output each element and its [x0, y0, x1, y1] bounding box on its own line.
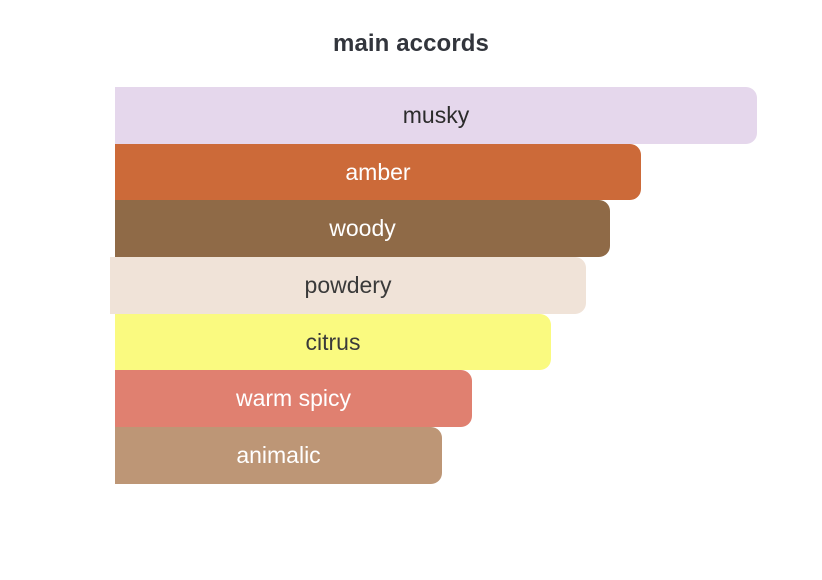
page-title: main accords: [0, 30, 822, 58]
accord-bar-label: amber: [345, 161, 410, 184]
accord-bar[interactable]: amber: [115, 144, 641, 201]
accord-bar-label: woody: [329, 217, 395, 240]
accord-bar[interactable]: citrus: [115, 314, 551, 371]
accord-bar-label: animalic: [236, 444, 320, 467]
main-accords-chart: main accords muskyamberwoodypowderycitru…: [0, 0, 822, 580]
accord-bar[interactable]: animalic: [115, 427, 442, 484]
accord-bar[interactable]: musky: [115, 87, 757, 144]
accord-bar[interactable]: woody: [115, 200, 610, 257]
accord-bar-label: warm spicy: [236, 387, 351, 410]
bar-list: muskyamberwoodypowderycitruswarm spicyan…: [0, 87, 822, 484]
accord-bar[interactable]: powdery: [110, 257, 586, 314]
accord-bar-label: powdery: [305, 274, 392, 297]
accord-bar-label: citrus: [306, 331, 361, 354]
accord-bar-label: musky: [403, 104, 469, 127]
accord-bar[interactable]: warm spicy: [115, 370, 472, 427]
